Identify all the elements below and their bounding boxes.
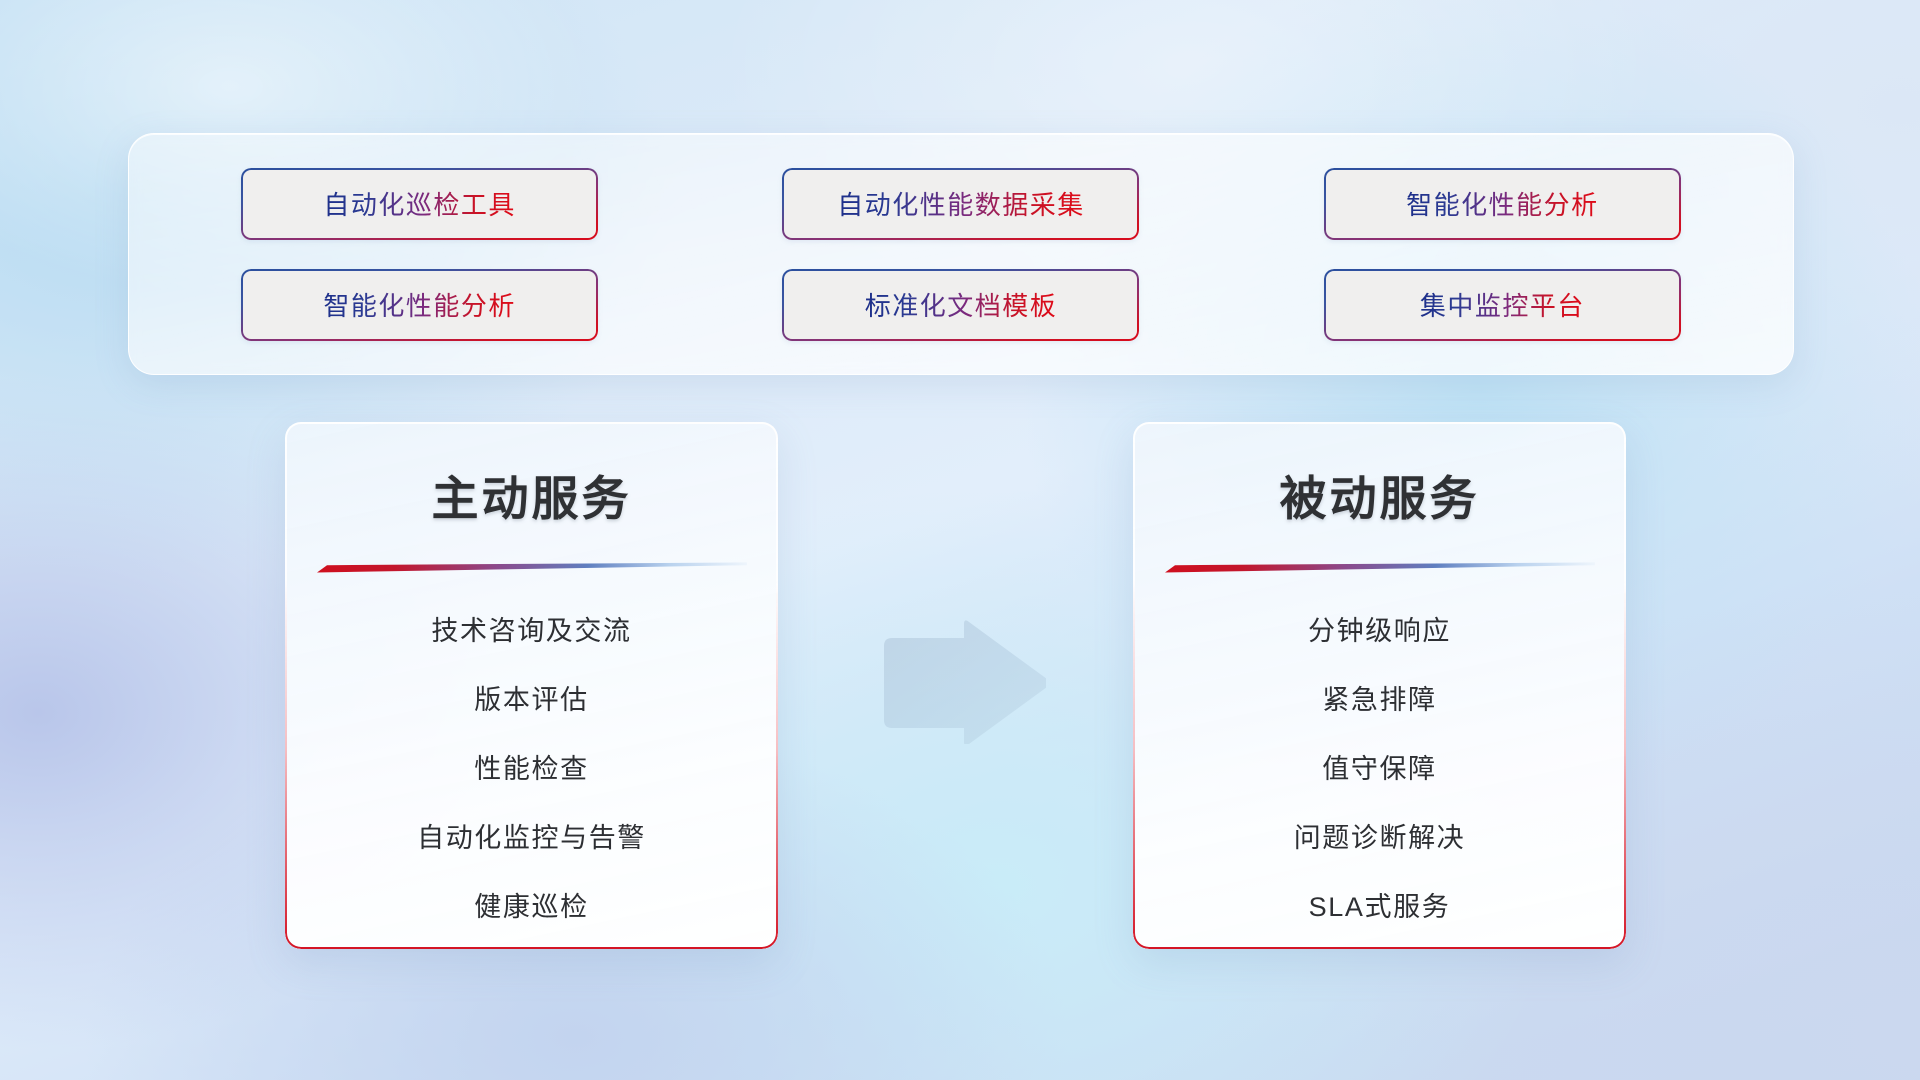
list-item: 性能检查 — [474, 747, 588, 786]
capability-tag-label: 智能化性能分析 — [1406, 185, 1599, 222]
list-item: 健康巡检 — [474, 885, 588, 924]
service-card-title: 主动服务 — [285, 460, 778, 529]
service-card-passive: 被动服务 分钟级响应 紧急排障 值守保障 问题诊断解决 SLA式服务 — [1133, 422, 1626, 949]
capability-tag[interactable]: 标准化文档模板 — [782, 269, 1139, 341]
capability-tag[interactable]: 集中监控平台 — [1324, 269, 1681, 341]
list-item: 技术咨询及交流 — [431, 609, 631, 648]
arrow-right-icon — [876, 620, 1046, 744]
service-card-list: 分钟级响应 紧急排障 值守保障 问题诊断解决 SLA式服务 — [1133, 609, 1626, 924]
capability-tag-grid: 自动化巡检工具 自动化性能数据采集 智能化性能分析 智能化性能分析 标准化文档模… — [129, 134, 1793, 374]
list-item: 问题诊断解决 — [1294, 816, 1466, 855]
list-item: 版本评估 — [474, 678, 588, 717]
title-divider — [317, 562, 747, 573]
capability-tag[interactable]: 智能化性能分析 — [1324, 168, 1681, 240]
capability-tag-label: 自动化性能数据采集 — [837, 185, 1085, 222]
capability-tag[interactable]: 自动化性能数据采集 — [782, 168, 1139, 240]
list-item: SLA式服务 — [1309, 885, 1451, 924]
capability-tag[interactable]: 智能化性能分析 — [241, 269, 598, 341]
list-item: 值守保障 — [1322, 747, 1436, 786]
list-item: 紧急排障 — [1322, 678, 1436, 717]
list-item: 自动化监控与告警 — [417, 816, 646, 855]
title-divider — [1165, 562, 1595, 573]
capability-tag-label: 标准化文档模板 — [865, 286, 1058, 323]
service-card-title: 被动服务 — [1133, 460, 1626, 529]
list-item: 分钟级响应 — [1308, 609, 1451, 648]
capability-tag-label: 智能化性能分析 — [323, 286, 516, 323]
capability-tags-panel: 自动化巡检工具 自动化性能数据采集 智能化性能分析 智能化性能分析 标准化文档模… — [128, 133, 1794, 375]
capability-tag-label: 集中监控平台 — [1420, 286, 1585, 323]
service-card-list: 技术咨询及交流 版本评估 性能检查 自动化监控与告警 健康巡检 — [285, 609, 778, 924]
service-card-active: 主动服务 技术咨询及交流 版本评估 性能检查 自动化监控与告警 健康巡检 — [285, 422, 778, 949]
capability-tag-label: 自动化巡检工具 — [323, 185, 516, 222]
capability-tag[interactable]: 自动化巡检工具 — [241, 168, 598, 240]
